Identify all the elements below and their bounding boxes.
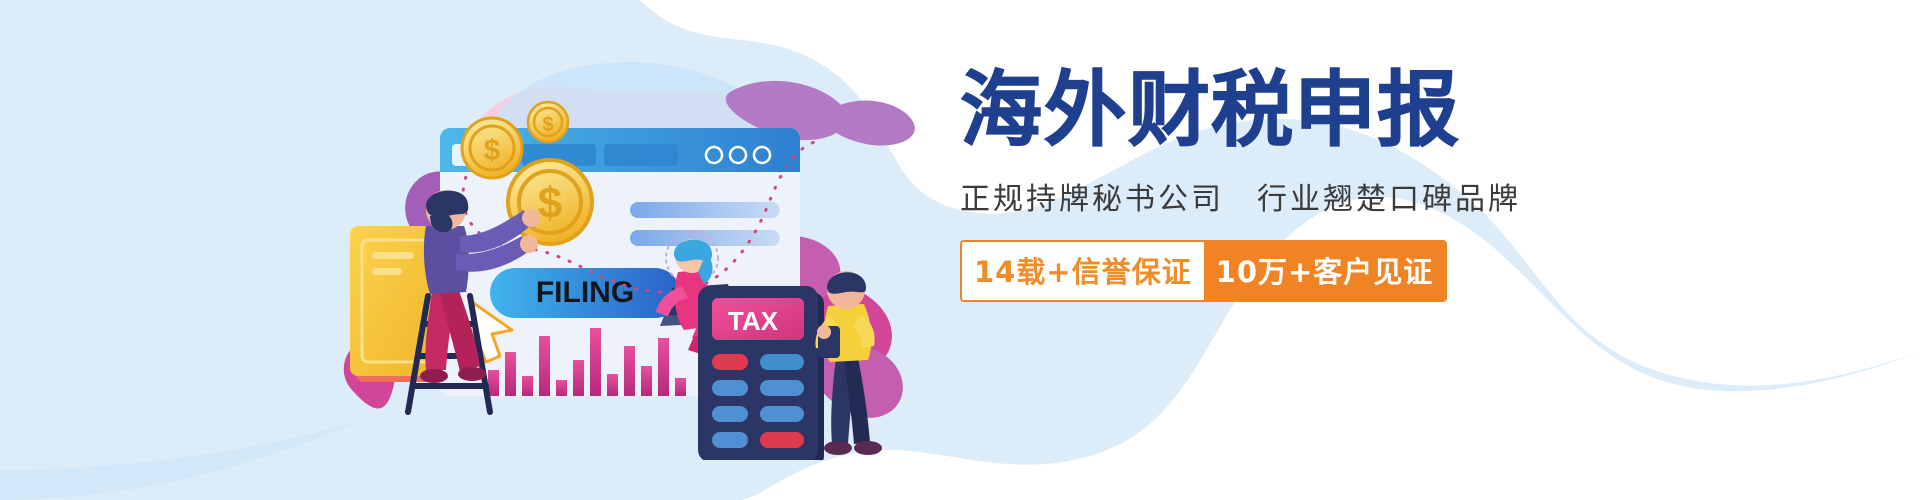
svg-text:$: $ — [542, 114, 553, 136]
dollar-coin-icon: $ — [462, 118, 522, 178]
text-content: 海外财税申报 正规持牌秘书公司 行业翘楚口碑品牌 14载+信誉保证 10万+客户… — [960, 70, 1720, 360]
calculator: TAX — [698, 286, 824, 460]
calculator-display-label: TAX — [728, 306, 779, 336]
promo-banner: FILING — [0, 0, 1920, 500]
filing-button-label: FILING — [536, 276, 634, 309]
badge-group: 14载+信誉保证 10万+客户见证 — [960, 240, 1447, 302]
subtitle: 正规持牌秘书公司 行业翘楚口碑品牌 — [960, 174, 1720, 218]
filing-button[interactable]: FILING — [490, 268, 680, 318]
dollar-coin-icon: $ — [528, 102, 568, 142]
svg-text:$: $ — [484, 134, 501, 167]
illustration-tax-filing: FILING — [300, 40, 940, 460]
status-badge: 10万+客户见证 — [1204, 242, 1446, 300]
headline-part-2: 财税申报 — [1128, 63, 1460, 158]
page-title: 海外财税申报 — [960, 70, 1720, 152]
status-badge: 14载+信誉保证 — [962, 242, 1204, 300]
svg-text:$: $ — [538, 179, 562, 228]
headline-part-1: 海外 — [960, 63, 1128, 158]
